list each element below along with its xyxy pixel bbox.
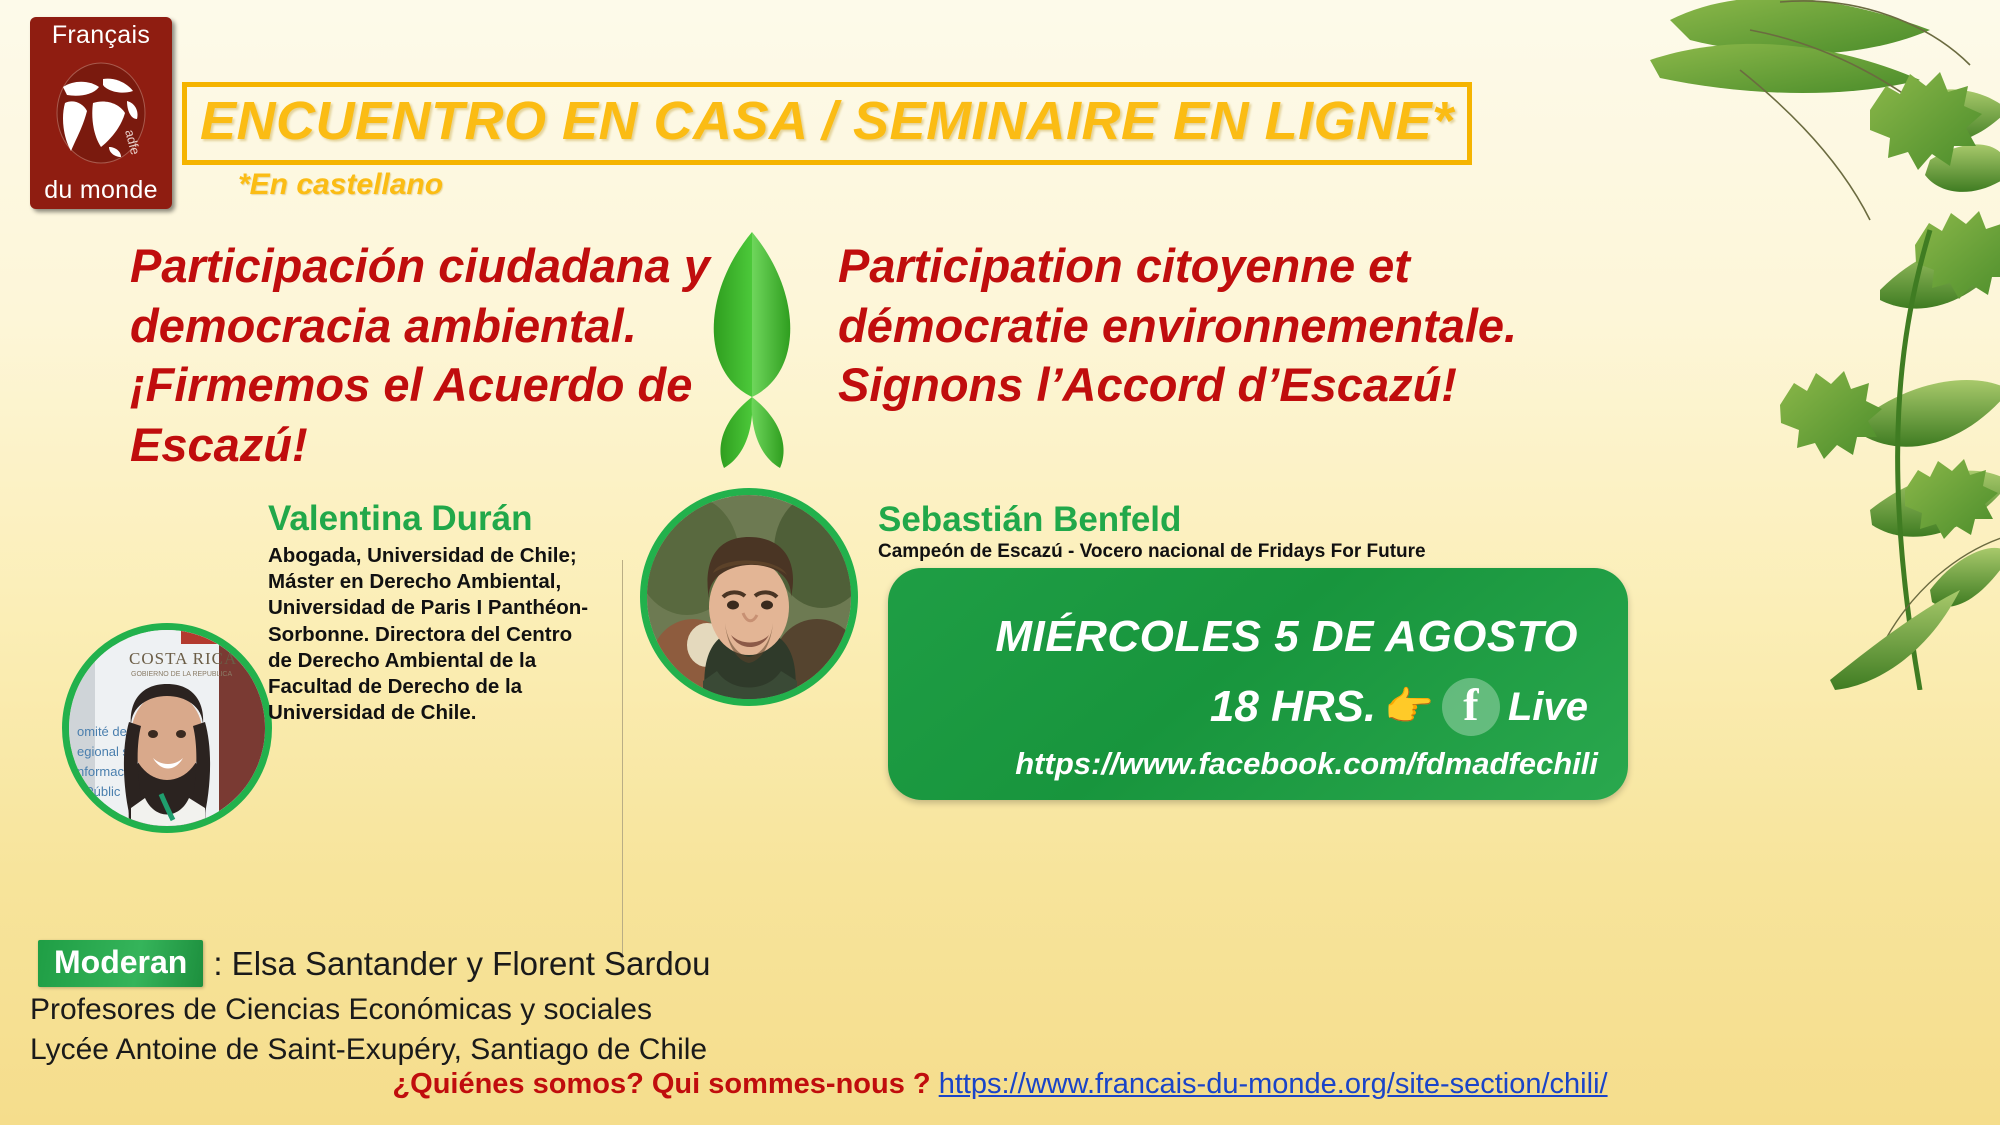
pointing-right-hand-emoji: 👉 [1384, 687, 1434, 727]
svg-text:COSTA RICA: COSTA RICA [129, 649, 237, 668]
logo-top-text: Français [52, 23, 150, 48]
portrait-sebastian-benfeld [640, 488, 858, 706]
event-facebook-url[interactable]: https://www.facebook.com/fdmadfechili [888, 746, 1598, 782]
speaker-bio-2: Campeón de Escazú - Vocero nacional de F… [878, 540, 1558, 565]
portrait-valentina-duran: COSTA RICA GOBIERNO DE LA REPUBLICA omit… [62, 623, 272, 833]
moderator-role-line-1: Profesores de Ciencias Económicas y soci… [30, 990, 707, 1030]
event-time-row: 18 HRS. 👉 f Live [888, 678, 1588, 736]
footer: ¿Quiénes somos? Qui sommes-nous ? https:… [0, 1068, 2000, 1101]
live-label: Live [1508, 685, 1588, 730]
page-title: ENCUENTRO EN CASA / SEMINAIRE EN LIGNE* [200, 90, 1620, 152]
speaker-name-1: Valentina Durán [268, 499, 533, 539]
moderators-row: Moderan : Elsa Santander y Florent Sardo… [38, 940, 710, 987]
svg-text:nformaci: nformaci [77, 764, 127, 779]
status-badge: Moderan [38, 940, 203, 987]
globe-icon: adfe [49, 61, 153, 165]
svg-text:st: st [91, 804, 102, 819]
event-date: MIÉRCOLES 5 DE AGOSTO [888, 612, 1578, 662]
column-divider [622, 560, 623, 960]
logo-bottom-text: du monde [44, 178, 158, 203]
event-time: 18 HRS. [1210, 682, 1376, 732]
footer-question: ¿Quiénes somos? Qui sommes-nous ? [392, 1068, 930, 1100]
logo-francais-du-monde: Français adfe du monde [30, 17, 172, 209]
speaker-bio-1: Abogada, Universidad de Chile; Máster en… [268, 543, 598, 727]
footer-website-link[interactable]: https://www.francais-du-monde.org/site-s… [939, 1068, 1608, 1100]
headline-spanish: Participación ciudadana y democracia amb… [130, 236, 750, 475]
plant-vine-decoration [1630, 0, 2000, 690]
moderator-roles: Profesores de Ciencias Económicas y soci… [30, 990, 707, 1070]
facebook-icon[interactable]: f [1442, 678, 1500, 736]
subtitle-language-note: *En castellano [238, 168, 443, 202]
moderator-role-line-2: Lycée Antoine de Saint-Exupéry, Santiago… [30, 1030, 707, 1070]
event-details-box: MIÉRCOLES 5 DE AGOSTO 18 HRS. 👉 f Live h… [888, 568, 1628, 800]
poster-canvas: Français adfe du monde ENCUENTRO EN CASA… [0, 0, 2000, 1125]
moderator-names: : Elsa Santander y Florent Sardou [213, 945, 710, 983]
speaker-name-2: Sebastián Benfeld [878, 500, 1181, 540]
svg-text:GOBIERNO DE LA REPUBLICA: GOBIERNO DE LA REPUBLICA [131, 671, 232, 678]
svg-text:Públic: Públic [85, 784, 121, 799]
headline-french: Participation citoyenne et démocratie en… [838, 236, 1578, 415]
